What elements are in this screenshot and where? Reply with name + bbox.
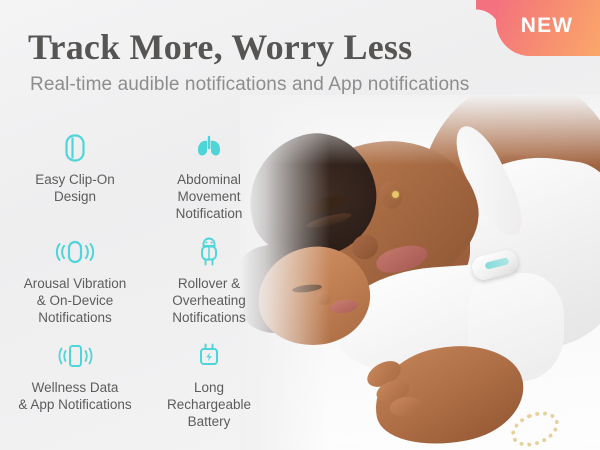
page-title: Track More, Worry Less [28, 26, 412, 68]
feature-label-line: Battery [150, 413, 268, 430]
feature-item-wellness-data: Wellness Data & App Notifications [0, 340, 150, 430]
feature-label: Abdominal Movement Notification [150, 171, 268, 222]
new-badge-label: NEW [521, 14, 574, 38]
feature-label-line: & On-Device [0, 292, 150, 309]
feature-label-line: Arousal Vibration [0, 275, 150, 292]
feature-label: Arousal Vibration & On-Device Notificati… [0, 275, 150, 326]
feature-label-line: Wellness Data [0, 379, 150, 396]
photo-top-fade [240, 95, 600, 165]
feature-label: Long Rechargeable Battery [150, 379, 268, 430]
feature-label-line: Design [0, 188, 150, 205]
feature-label-line: Rollover & [150, 275, 268, 292]
lungs-icon [194, 132, 224, 164]
new-badge: NEW [496, 0, 600, 56]
feature-label-line: & App Notifications [0, 396, 150, 413]
feature-grid: Easy Clip-On Design Abdominal Movement N… [0, 132, 262, 430]
battery-charge-icon [195, 340, 223, 372]
feature-label-line: Movement [150, 188, 268, 205]
feature-item-easy-clip-on-design: Easy Clip-On Design [0, 132, 150, 222]
feature-label: Easy Clip-On Design [0, 171, 150, 205]
baby-icon [196, 236, 222, 268]
feature-item-arousal-vibration: Arousal Vibration & On-Device Notificati… [0, 236, 150, 326]
feature-label: Rollover & Overheating Notifications [150, 275, 268, 326]
feature-label-line: Overheating [150, 292, 268, 309]
page-subtitle: Real-time audible notifications and App … [30, 74, 469, 96]
feature-label-line: Abdominal [150, 171, 268, 188]
feature-item-abdominal-movement-notification: Abdominal Movement Notification [150, 132, 268, 222]
phone-signal-icon [53, 340, 97, 372]
feature-label-line: Notifications [0, 309, 150, 326]
hero-photo [240, 95, 600, 450]
feature-label-line: Notifications [150, 309, 268, 326]
feature-label-line: Notification [150, 205, 268, 222]
feature-label: Wellness Data & App Notifications [0, 379, 150, 413]
feature-label-line: Long [150, 379, 268, 396]
vibrating-device-icon [52, 236, 98, 268]
clip-on-device-icon [61, 132, 89, 164]
feature-label-line: Rechargeable [150, 396, 268, 413]
feature-item-rollover-overheating: Rollover & Overheating Notifications [150, 236, 268, 326]
promo-banner: NEW Track More, Worry Less Real-time aud… [0, 0, 600, 450]
feature-label-line: Easy Clip-On [0, 171, 150, 188]
earring [392, 191, 399, 198]
feature-item-long-rechargeable-battery: Long Rechargeable Battery [150, 340, 268, 430]
